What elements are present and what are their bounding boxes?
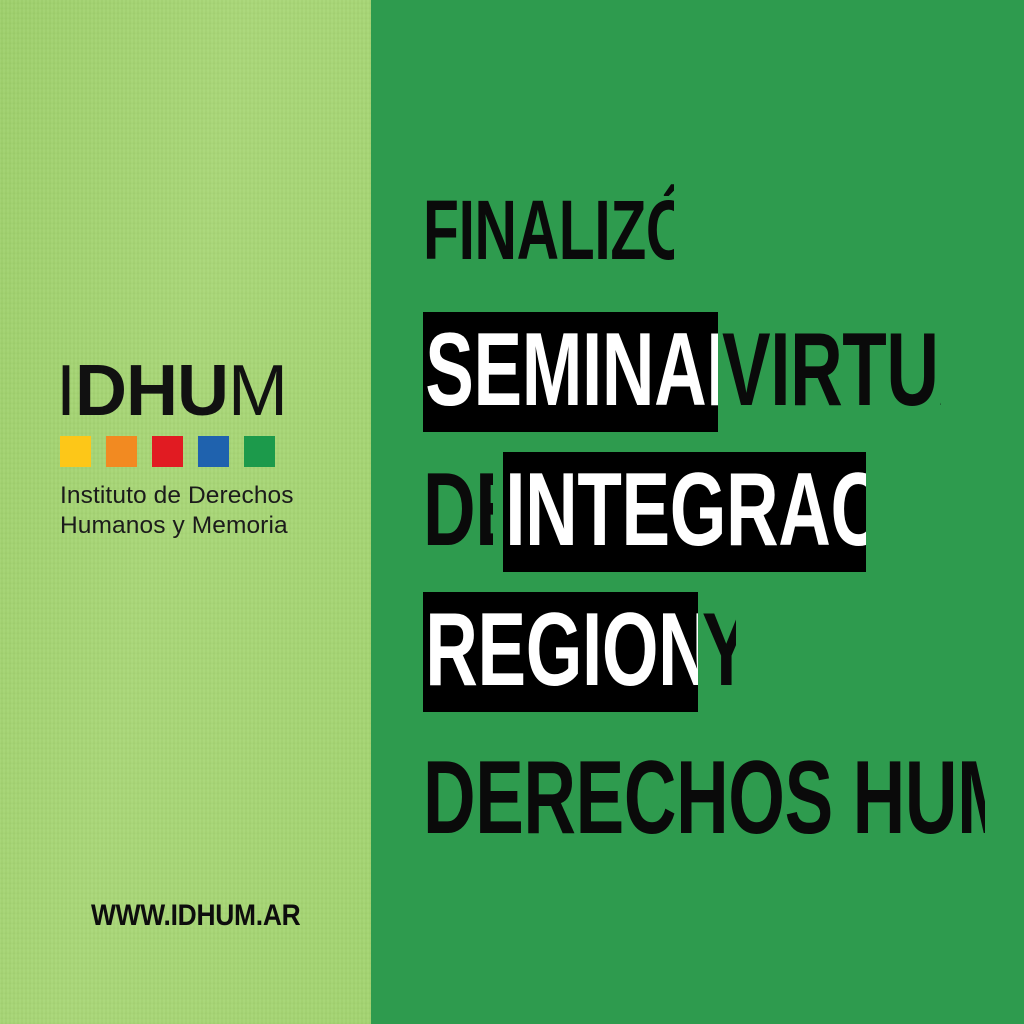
square-blue-icon [198,436,229,467]
logo-wordmark-thin-suffix: M [228,351,287,431]
logo-wordmark-bold-core: DHU [75,351,228,431]
poster-canvas: IDHUM Instituto de Derechos Humanos y Me… [0,0,1024,1024]
logo-wordmark-thin-prefix: I [56,351,75,431]
logo-tagline-line-1: Instituto de Derechos [60,481,320,511]
headline-word: DERECHOS HUMANOS [423,740,985,860]
square-orange-icon [106,436,137,467]
headline-word: VIRTUAL [722,312,941,432]
headline-word: Y [702,592,736,712]
idhum-logo: IDHUM Instituto de Derechos Humanos y Me… [58,358,320,541]
headline-word-wrap: DE [423,452,493,572]
headline-word-wrap: REGIONAL [423,592,698,712]
headline-word-wrap: INTEGRACIÓN [503,452,865,572]
headline: FINALIZÓ ELSEMINARIOVIRTUALDEINTEGRACIÓN… [423,182,1023,874]
logo-wordmark: IDHUM [56,358,320,424]
logo-tagline-line-2: Humanos y Memoria [60,511,320,541]
headline-line: DERECHOS HUMANOS [423,740,1023,860]
headline-word-wrap: VIRTUAL [722,312,941,432]
logo-tagline: Instituto de Derechos Humanos y Memoria [60,481,320,541]
website-url[interactable]: WWW.IDHUM.AR [91,899,300,933]
headline-line: DEINTEGRACIÓN [423,452,1023,572]
headline-word: DE [423,452,493,572]
headline-line: REGIONALY [423,592,1023,712]
headline-line: SEMINARIOVIRTUAL [423,312,1023,432]
headline-word: FINALIZÓ EL [423,182,674,282]
headline-word-highlighted: INTEGRACIÓN [503,452,865,572]
headline-word-wrap: DERECHOS HUMANOS [423,740,985,860]
square-green-icon [244,436,275,467]
headline-word-highlighted: SEMINARIO [423,312,718,432]
headline-word-highlighted: REGIONAL [423,592,698,712]
headline-word-wrap: Y [702,592,736,712]
headline-word-wrap: SEMINARIO [423,312,718,432]
logo-color-squares [60,436,320,467]
square-yellow-icon [60,436,91,467]
headline-line: FINALIZÓ EL [423,182,1023,282]
square-red-icon [152,436,183,467]
headline-word-wrap: FINALIZÓ EL [423,182,674,282]
